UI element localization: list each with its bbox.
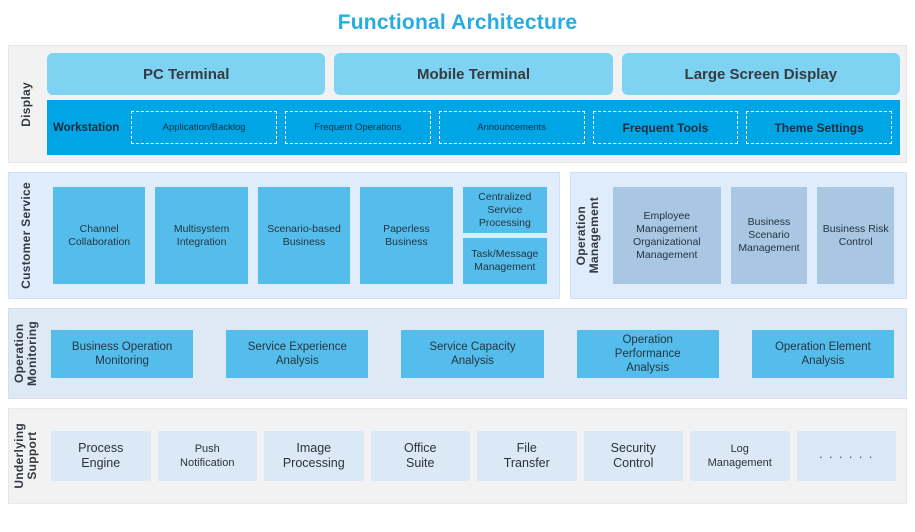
sup-box-file-transfer[interactable]: FileTransfer [477, 431, 577, 481]
underlying-support-section-body: ProcessEngine PushNotification ImageProc… [43, 409, 906, 503]
workstation-item-application-backlog[interactable]: Application/Backlog [131, 111, 277, 144]
sup-box-push-notification[interactable]: PushNotification [158, 431, 258, 481]
workstation-item-theme-settings[interactable]: Theme Settings [746, 111, 892, 144]
sup-box-more-ellipsis: · · · · · · [797, 431, 897, 481]
operation-management-section-body: EmployeeManagementOrganizationalManageme… [605, 173, 906, 298]
cs-box-channel-collaboration[interactable]: ChannelCollaboration [53, 187, 145, 284]
customer-service-section-label-text: Customer Service [20, 182, 33, 289]
om-box-business-risk-control[interactable]: Business RiskControl [817, 187, 894, 284]
operation-monitoring-section-label: OperationMonitoring [9, 309, 43, 398]
customer-service-section-label: Customer Service [9, 173, 43, 298]
customer-service-section: Customer Service ChannelCollaboration Mu… [8, 172, 560, 299]
workstation-title: Workstation [53, 122, 123, 134]
operation-management-section: OperationManagement EmployeeManagementOr… [570, 172, 907, 299]
underlying-support-section: UnderlyingSupport ProcessEngine PushNoti… [8, 408, 907, 504]
display-section-label-text: Display [20, 82, 33, 127]
display-section-body: PC Terminal Mobile Terminal Large Screen… [43, 46, 906, 162]
sup-box-office-suite[interactable]: OfficeSuite [371, 431, 471, 481]
om-box-employee-management[interactable]: EmployeeManagementOrganizationalManageme… [613, 187, 721, 284]
cs-box-task-message-management[interactable]: Task/MessageManagement [463, 238, 547, 284]
customer-service-section-body: ChannelCollaboration MultisystemIntegrat… [43, 173, 559, 298]
mon-box-operation-element-analysis[interactable]: Operation ElementAnalysis [752, 330, 894, 378]
mon-box-business-operation-monitoring[interactable]: Business OperationMonitoring [51, 330, 193, 378]
operation-monitoring-section-label-text: OperationMonitoring [13, 321, 39, 386]
display-section-label: Display [9, 46, 43, 162]
sup-box-process-engine[interactable]: ProcessEngine [51, 431, 151, 481]
sup-box-image-processing[interactable]: ImageProcessing [264, 431, 364, 481]
sup-box-security-control[interactable]: SecurityControl [584, 431, 684, 481]
mon-box-operation-performance-analysis[interactable]: OperationPerformanceAnalysis [577, 330, 719, 378]
workstation-row: Workstation Application/Backlog Frequent… [47, 100, 900, 155]
operation-management-section-label: OperationManagement [571, 173, 605, 298]
cs-box-centralized-service-processing[interactable]: Centralized ServiceProcessing [463, 187, 547, 233]
cs-box-scenario-based-business[interactable]: Scenario-basedBusiness [258, 187, 350, 284]
page-title: Functional Architecture [0, 0, 915, 37]
terminal-mobile[interactable]: Mobile Terminal [334, 53, 612, 95]
underlying-support-section-label-text: UnderlyingSupport [13, 423, 39, 489]
underlying-support-section-label: UnderlyingSupport [9, 409, 43, 503]
cs-box-paperless-business[interactable]: PaperlessBusiness [360, 187, 452, 284]
mon-box-service-experience-analysis[interactable]: Service ExperienceAnalysis [226, 330, 368, 378]
display-section: Display PC Terminal Mobile Terminal Larg… [8, 45, 907, 163]
sup-box-log-management[interactable]: LogManagement [690, 431, 790, 481]
cs-box-stack: Centralized ServiceProcessing Task/Messa… [463, 187, 547, 284]
workstation-item-frequent-tools[interactable]: Frequent Tools [593, 111, 739, 144]
terminal-row: PC Terminal Mobile Terminal Large Screen… [47, 53, 900, 95]
middle-row: Customer Service ChannelCollaboration Mu… [8, 172, 907, 299]
operation-management-section-label-text: OperationManagement [575, 197, 601, 273]
workstation-item-frequent-operations[interactable]: Frequent Operations [285, 111, 431, 144]
workstation-item-announcements[interactable]: Announcements [439, 111, 585, 144]
terminal-large-screen[interactable]: Large Screen Display [622, 53, 900, 95]
terminal-pc[interactable]: PC Terminal [47, 53, 325, 95]
operation-monitoring-section-body: Business OperationMonitoring Service Exp… [43, 309, 906, 398]
om-box-business-scenario-management[interactable]: BusinessScenarioManagement [731, 187, 808, 284]
cs-box-multisystem-integration[interactable]: MultisystemIntegration [155, 187, 247, 284]
operation-monitoring-section: OperationMonitoring Business OperationMo… [8, 308, 907, 399]
mon-box-service-capacity-analysis[interactable]: Service CapacityAnalysis [401, 330, 543, 378]
